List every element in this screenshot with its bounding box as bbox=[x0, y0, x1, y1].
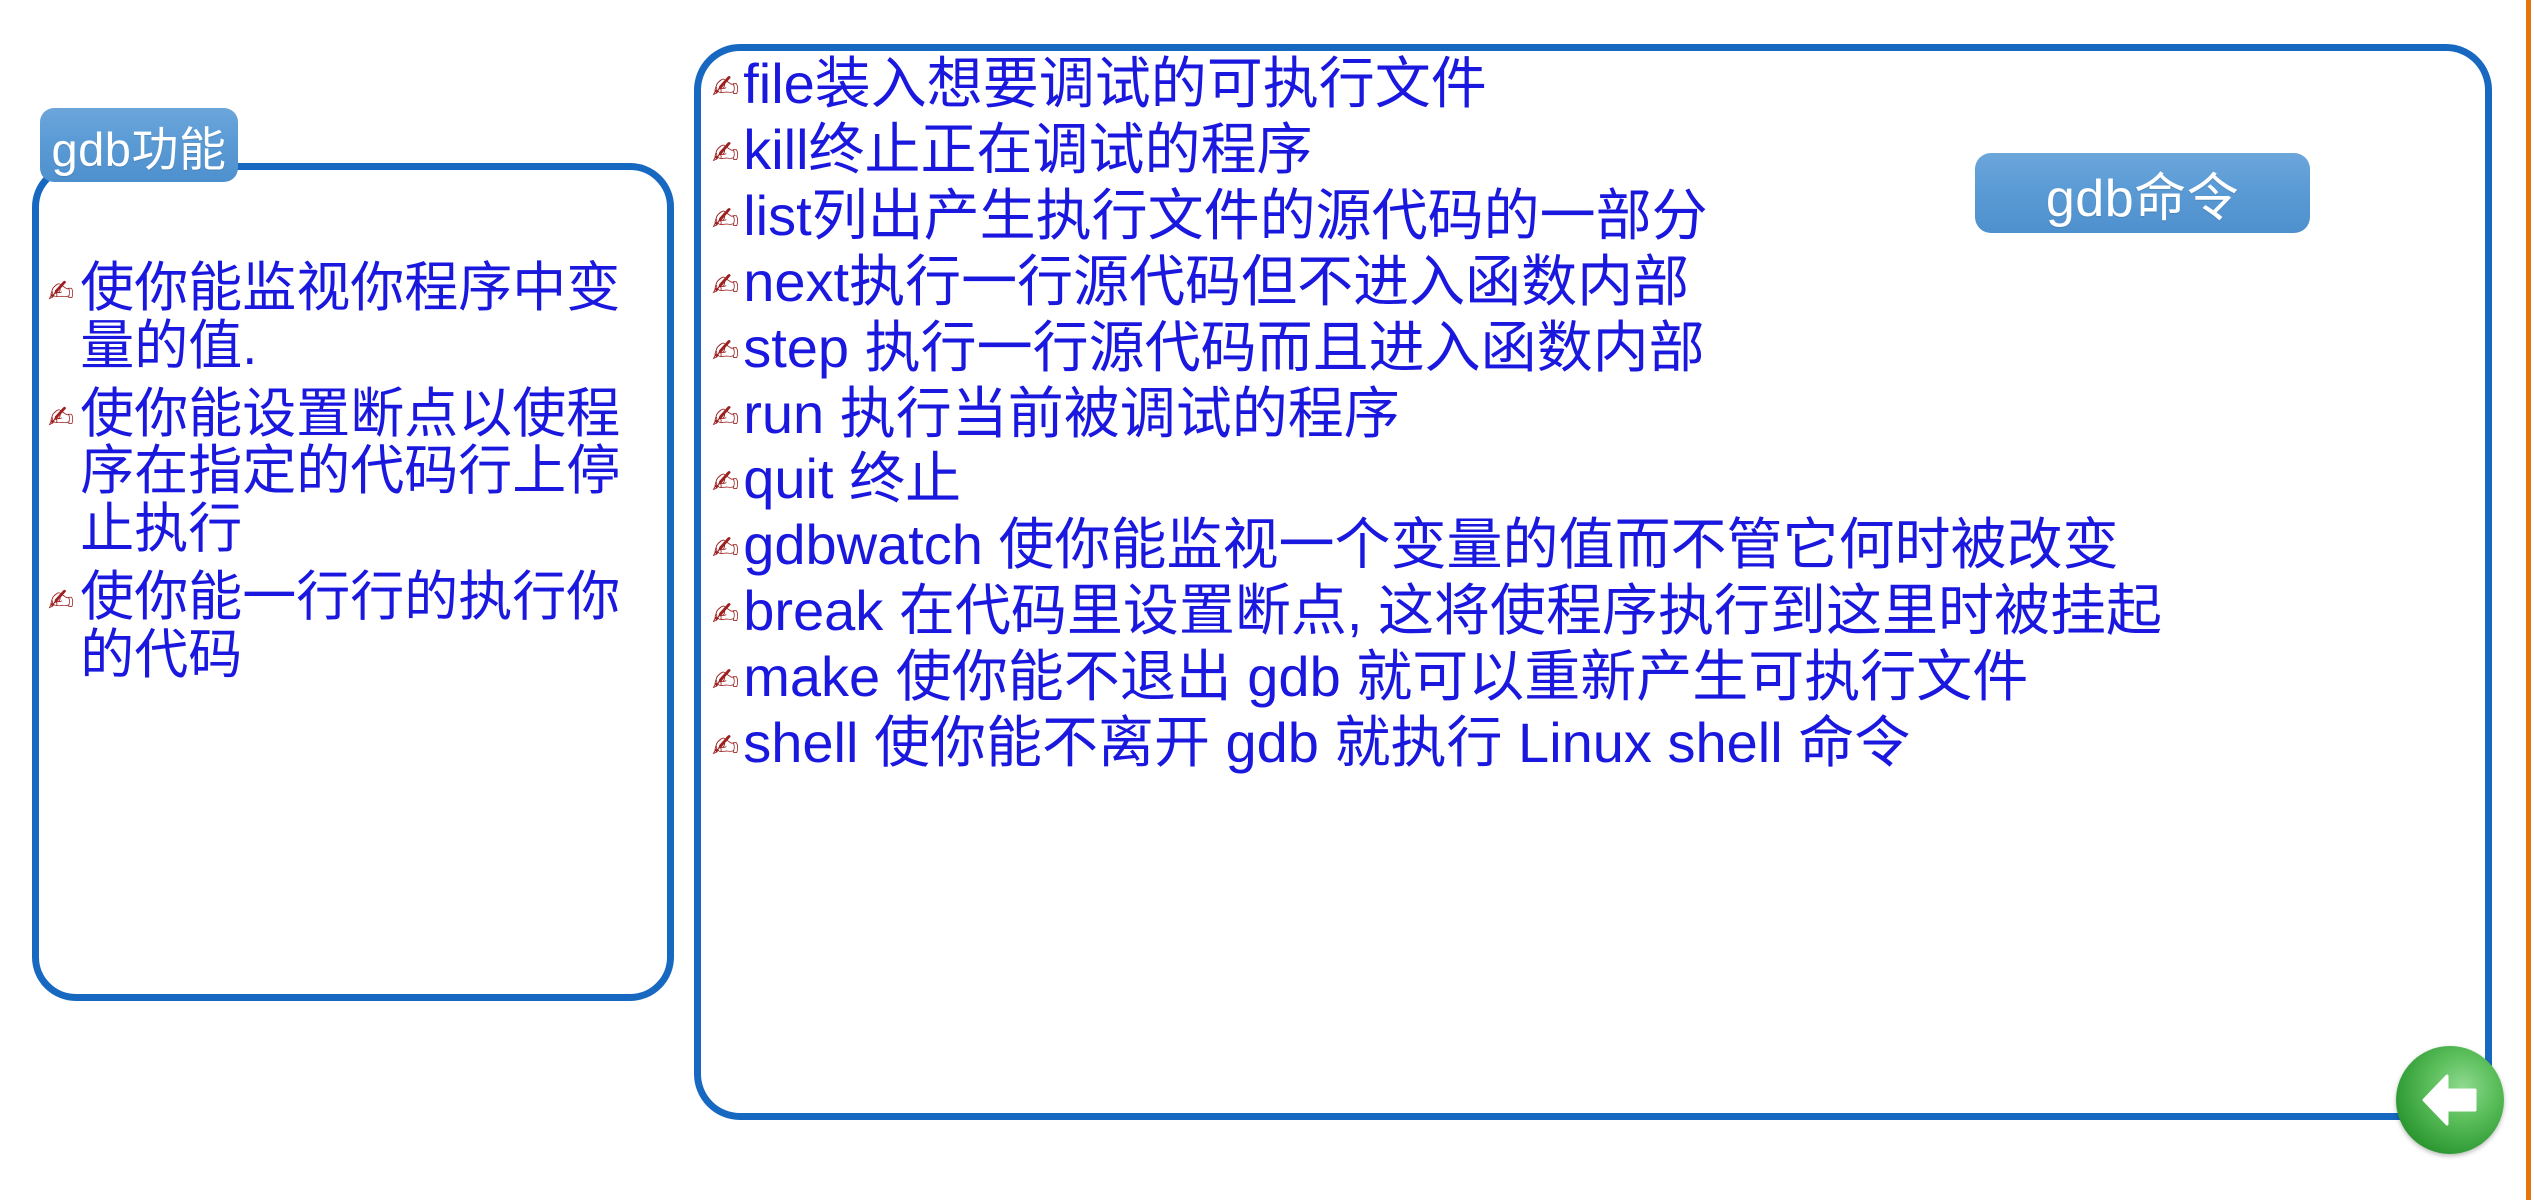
list-item-label: make 使你能不退出 gdb 就可以重新产生可执行文件 bbox=[743, 647, 2482, 707]
list-item: ✍ file装入想要调试的可执行文件 bbox=[712, 54, 2482, 114]
list-item: ✍ break 在代码里设置断点, 这将使程序执行到这里时被挂起 bbox=[712, 581, 2482, 641]
list-item: ✍ 使你能设置断点以使程序在指定的代码行上停止执行 bbox=[48, 386, 662, 559]
list-item-label: 使你能设置断点以使程序在指定的代码行上停止执行 bbox=[80, 386, 662, 559]
list-item: ✍ shell 使你能不离开 gdb 就执行 Linux shell 命令 bbox=[712, 713, 2482, 773]
right-edge-accent-rule bbox=[2526, 0, 2531, 1200]
pen-hand-bullet-icon: ✍ bbox=[712, 730, 739, 762]
pen-hand-bullet-icon: ✍ bbox=[48, 586, 74, 617]
gdb-features-badge: gdb功能 bbox=[40, 108, 238, 182]
pen-hand-bullet-icon: ✍ bbox=[712, 137, 739, 169]
gdb-features-list: ✍ 使你能监视你程序中变量的值. ✍ 使你能设置断点以使程序在指定的代码行上停止… bbox=[48, 188, 662, 688]
list-item-label: quit 终止 bbox=[743, 449, 2482, 509]
list-item-label: step 执行一行源代码而且进入函数内部 bbox=[743, 318, 2482, 378]
pen-hand-bullet-icon: ✍ bbox=[712, 598, 739, 630]
gdb-commands-badge: gdb命令 bbox=[1975, 153, 2310, 233]
list-item-label: 使你能一行行的执行你的代码 bbox=[80, 569, 662, 685]
list-item: ✍ 使你能一行行的执行你的代码 bbox=[48, 569, 662, 685]
pen-hand-bullet-icon: ✍ bbox=[712, 335, 739, 367]
gdb-commands-badge-label: gdb命令 bbox=[2046, 156, 2239, 231]
pen-hand-bullet-icon: ✍ bbox=[48, 277, 74, 308]
gdb-features-badge-label: gdb功能 bbox=[52, 111, 227, 180]
list-item-label: run 执行当前被调试的程序 bbox=[743, 384, 2482, 444]
list-item: ✍ make 使你能不退出 gdb 就可以重新产生可执行文件 bbox=[712, 647, 2482, 707]
pen-hand-bullet-icon: ✍ bbox=[712, 71, 739, 103]
list-item: ✍ gdbwatch 使你能监视一个变量的值而不管它何时被改变 bbox=[712, 515, 2482, 575]
pen-hand-bullet-icon: ✍ bbox=[712, 466, 739, 498]
list-item: ✍ 使你能监视你程序中变量的值. bbox=[48, 260, 662, 376]
pen-hand-bullet-icon: ✍ bbox=[712, 532, 739, 564]
back-button[interactable] bbox=[2396, 1046, 2504, 1154]
list-item-label: gdbwatch 使你能监视一个变量的值而不管它何时被改变 bbox=[743, 515, 2482, 575]
arrow-left-icon bbox=[2411, 1061, 2489, 1139]
pen-hand-bullet-icon: ✍ bbox=[712, 203, 739, 235]
list-item: ✍ run 执行当前被调试的程序 bbox=[712, 384, 2482, 444]
list-item: ✍ step 执行一行源代码而且进入函数内部 bbox=[712, 318, 2482, 378]
list-item: ✍ next执行一行源代码但不进入函数内部 bbox=[712, 252, 2482, 312]
list-item-label: next执行一行源代码但不进入函数内部 bbox=[743, 252, 2482, 312]
list-item-label: file装入想要调试的可执行文件 bbox=[743, 54, 2482, 114]
pen-hand-bullet-icon: ✍ bbox=[712, 400, 739, 432]
pen-hand-bullet-icon: ✍ bbox=[712, 269, 739, 301]
pen-hand-bullet-icon: ✍ bbox=[712, 664, 739, 696]
list-item-label: break 在代码里设置断点, 这将使程序执行到这里时被挂起 bbox=[743, 581, 2482, 641]
list-item-label: shell 使你能不离开 gdb 就执行 Linux shell 命令 bbox=[743, 713, 2482, 773]
pen-hand-bullet-icon: ✍ bbox=[48, 403, 74, 434]
slide-canvas: gdb功能 ✍ 使你能监视你程序中变量的值. ✍ 使你能设置断点以使程序在指定的… bbox=[0, 0, 2534, 1200]
list-item: ✍ quit 终止 bbox=[712, 449, 2482, 509]
list-item-label: 使你能监视你程序中变量的值. bbox=[80, 260, 662, 376]
